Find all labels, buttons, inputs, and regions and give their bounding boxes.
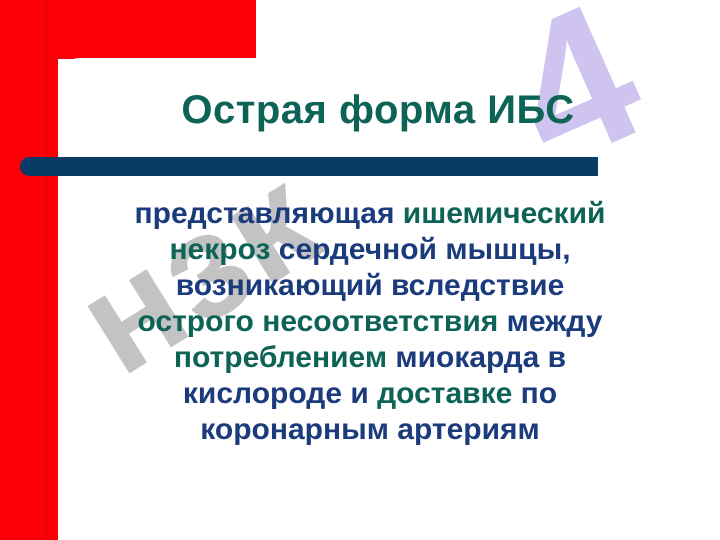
body-text-run: по [521,377,557,410]
body-text-run: доставке [377,377,521,410]
body-text: представляющая ишемическийнекроз сердечн… [60,196,680,448]
body-text-run: ишемический [403,197,606,230]
body-text-run: коронарным артериям [200,413,539,446]
body-text-run: миокарда в [395,341,566,374]
body-text-run: кислороде и [183,377,377,410]
page-title: Острая форма ИБС [58,88,698,133]
body-text-run: представляющая [135,197,403,230]
slide-canvas: 4 нзк Острая форма ИБС представляющая иш… [0,0,720,540]
body-line: некроз сердечной мышцы, [60,232,680,268]
body-text-run: возникающий вследствие [176,269,565,302]
body-text-run: потреблением [174,341,396,374]
body-line: острого несоответствия между [60,304,680,340]
body-line: возникающий вследствие [60,268,680,304]
body-line: коронарным артериям [60,412,680,448]
body-text-run: острого несоответствия [138,305,507,338]
body-text-run: сердечной мышцы, [279,233,571,266]
body-line: потреблением миокарда в [60,340,680,376]
body-line: представляющая ишемический [60,196,680,232]
body-text-run: некроз [169,233,278,266]
red-left-strip [0,0,58,540]
red-seam-line [45,0,48,540]
body-text-run: между [507,305,603,338]
body-line: кислороде и доставке по [60,376,680,412]
title-underline-bar [20,157,598,176]
